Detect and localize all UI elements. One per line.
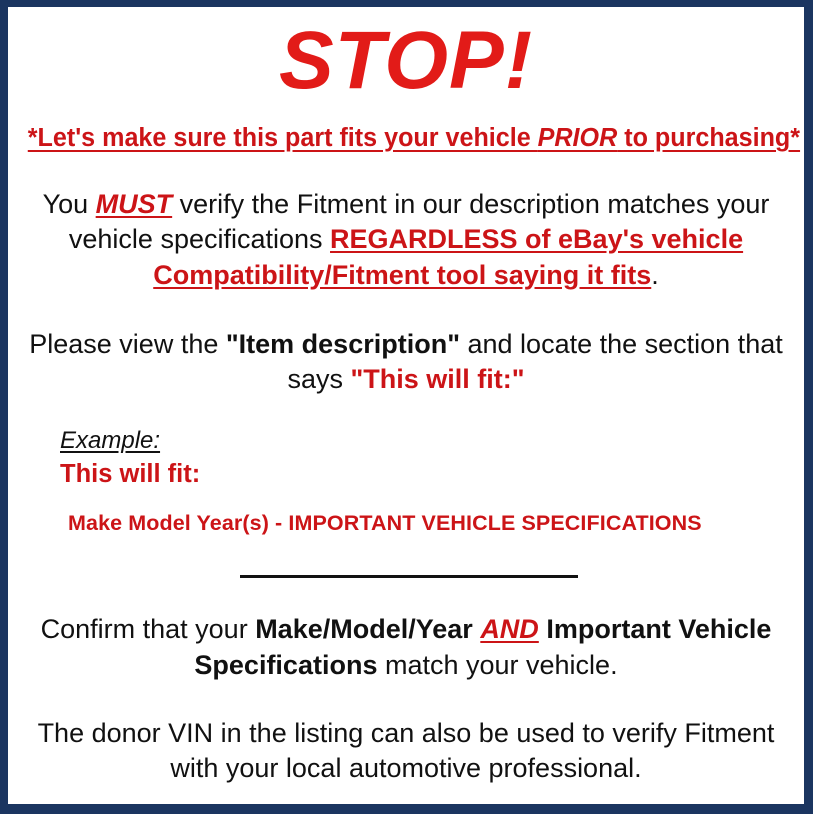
view-seg-lead: Please view the — [29, 329, 226, 359]
must-seg-end: . — [651, 260, 659, 290]
make-model-year-emphasis: Make/Model/Year — [255, 614, 473, 644]
example-spec-line: Make Model Year(s) - IMPORTANT VEHICLE S… — [60, 490, 790, 537]
tagline-emphasis-prior: PRIOR — [538, 124, 618, 152]
tagline-suffix: to purchasing* — [617, 124, 800, 152]
confirm-paragraph: Confirm that your Make/Model/Year AND Im… — [26, 585, 786, 682]
confirm-seg-lead: Confirm that your — [41, 614, 256, 644]
fitment-notice-card: STOP! *Let's make sure this part fits yo… — [0, 0, 813, 814]
notice-content: STOP! *Let's make sure this part fits yo… — [8, 7, 804, 804]
and-emphasis: AND — [480, 614, 539, 644]
example-fit-heading: This will fit: — [60, 455, 790, 490]
page-title: STOP! — [22, 7, 790, 102]
section-divider — [240, 575, 578, 578]
donor-vin-paragraph: The donor VIN in the listing can also be… — [22, 683, 790, 786]
example-label: Example: — [60, 427, 160, 455]
item-description-emphasis: "Item description" — [226, 329, 460, 359]
closing-thank-you: Thank you for confirming Fitment! — [22, 786, 790, 804]
confirm-seg-end: match your vehicle. — [377, 650, 617, 680]
divider-wrap — [22, 536, 790, 585]
example-block: Example: This will fit: Make Model Year(… — [22, 397, 790, 537]
must-seg-lead: You — [43, 189, 96, 219]
this-will-fit-quote: "This will fit:" — [350, 364, 524, 394]
tagline-prefix: *Let's make sure this part fits your veh… — [28, 124, 538, 152]
must-verify-paragraph: You MUST verify the Fitment in our descr… — [26, 153, 786, 292]
tagline: *Let's make sure this part fits your veh… — [28, 102, 784, 153]
item-description-paragraph: Please view the "Item description" and l… — [22, 293, 790, 397]
must-emphasis: MUST — [96, 189, 173, 219]
example-label-row: Example: — [60, 427, 790, 455]
